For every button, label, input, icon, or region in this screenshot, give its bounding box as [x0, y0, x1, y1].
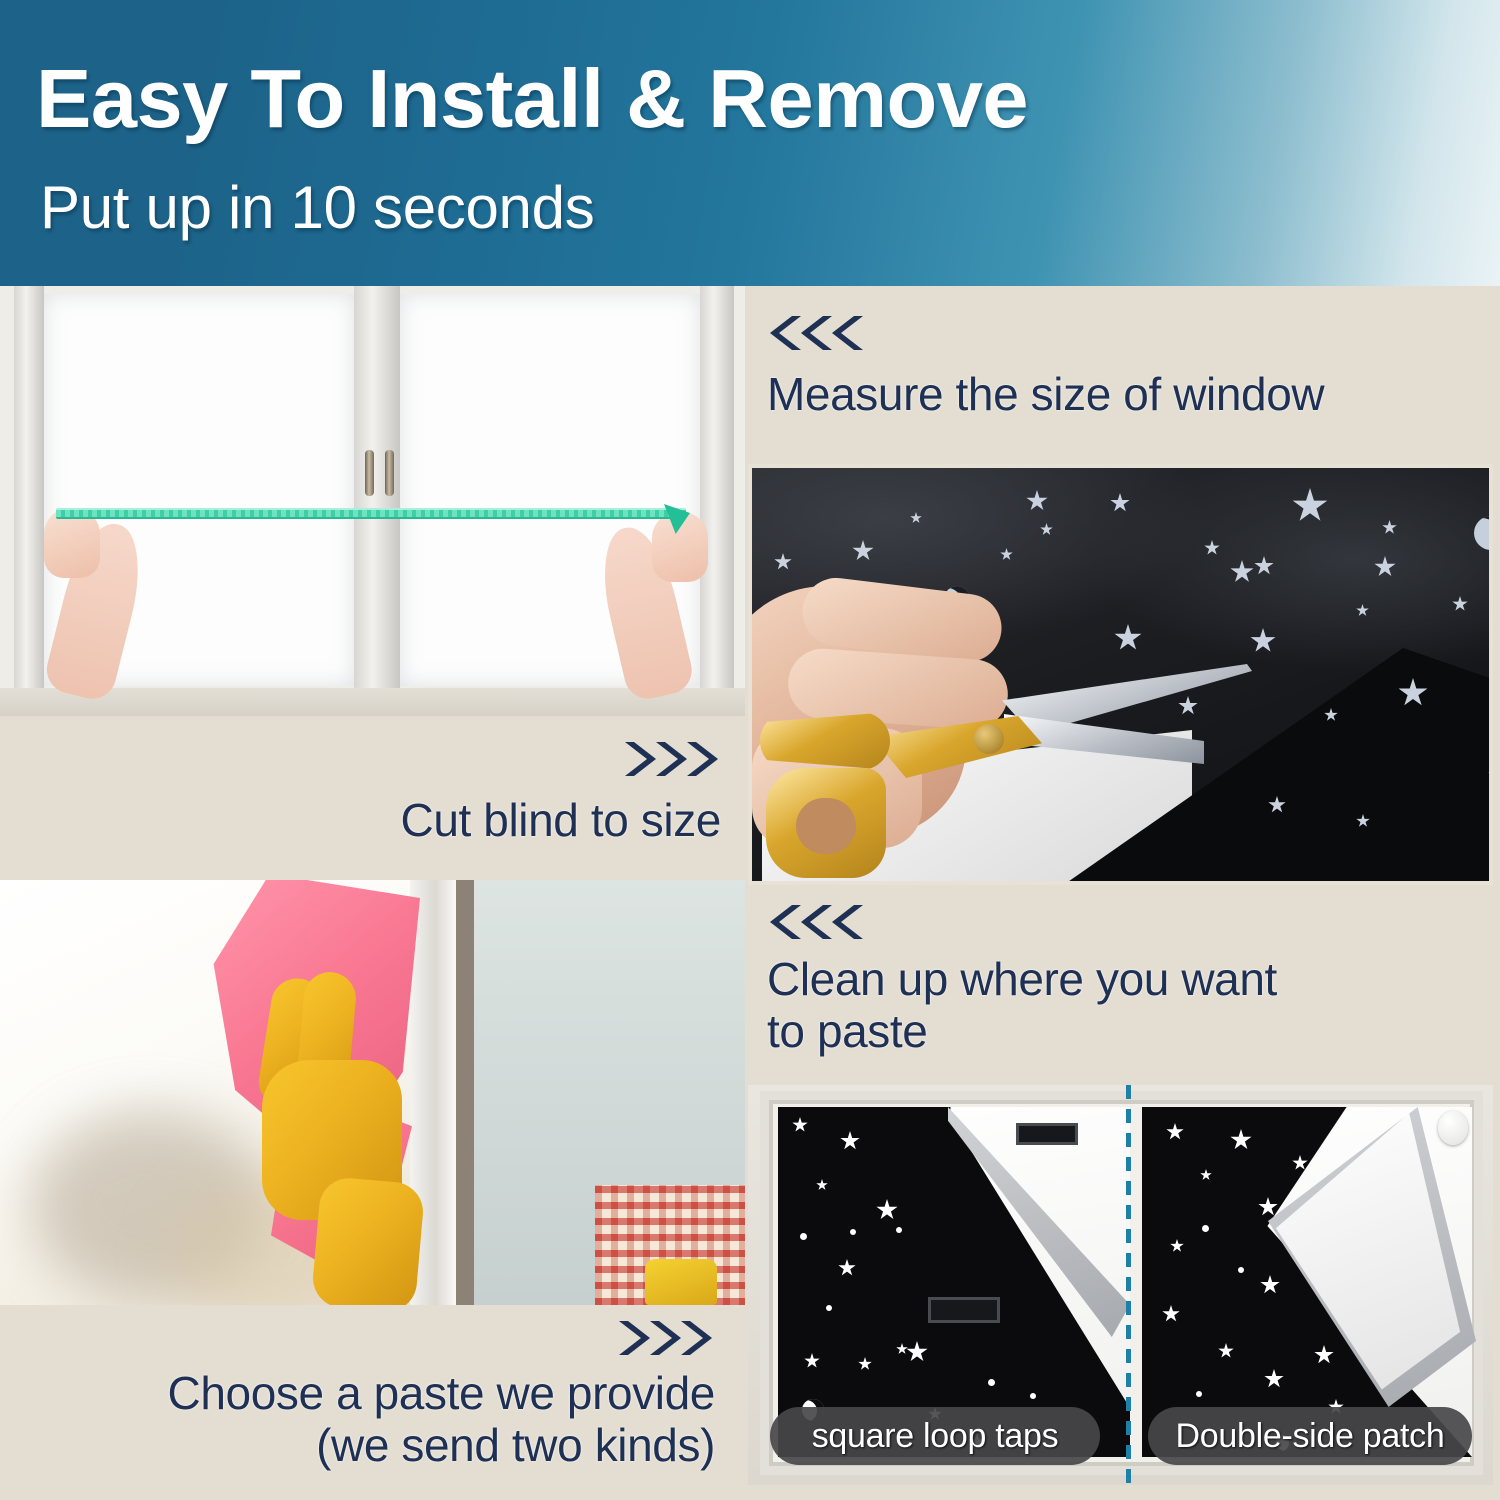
star-icon: [896, 1343, 908, 1355]
dot-icon: [896, 1227, 902, 1233]
window-handle-left: [365, 450, 374, 496]
dot-icon: [850, 1229, 856, 1235]
caption-clean-line2: to paste: [767, 1005, 1277, 1057]
caption-text-cut: Cut blind to size: [401, 794, 721, 846]
star-icon: [838, 1259, 856, 1277]
caption-paste-line2: (we send two kinds): [168, 1419, 715, 1471]
chevron-right-triple-icon: [621, 738, 721, 780]
window-handle-right: [385, 450, 394, 496]
double-side-patch-dot: [1438, 1111, 1468, 1145]
cut-blind-photo: [748, 464, 1493, 885]
rubber-glove-cuff: [311, 1176, 426, 1305]
window-mullion-right: [700, 286, 734, 698]
star-icon: [1258, 1197, 1278, 1217]
measuring-tape: [56, 508, 686, 519]
square-loop-tape-top: [1016, 1123, 1078, 1145]
dot-icon: [826, 1305, 832, 1311]
star-icon: [1314, 1345, 1334, 1365]
caption-cut-blind: Cut blind to size: [0, 716, 745, 880]
dot-icon: [1196, 1391, 1202, 1397]
star-icon: [840, 1131, 860, 1151]
star-icon: [1200, 1169, 1212, 1181]
scissor-handle-hole: [796, 798, 856, 854]
star-icon: [1170, 1239, 1184, 1253]
caption-clean-up: Clean up where you want to paste: [745, 885, 1500, 1085]
page-subtitle: Put up in 10 seconds: [40, 178, 594, 238]
star-icon: [1230, 1129, 1252, 1151]
star-icon: [876, 1199, 898, 1221]
caption-text-clean: Clean up where you want to paste: [767, 953, 1277, 1058]
star-icon: [1218, 1343, 1234, 1359]
caption-text-paste: Choose a paste we provide (we send two k…: [168, 1367, 715, 1472]
star-icon: [792, 1117, 808, 1133]
scissor-pivot-screw: [974, 724, 1004, 754]
star-icon: [804, 1353, 820, 1369]
dot-icon: [1030, 1393, 1036, 1399]
star-icon: [858, 1357, 872, 1371]
star-icon: [1264, 1369, 1284, 1389]
header-banner: Easy To Install & Remove Put up in 10 se…: [0, 0, 1500, 286]
badge-square-loop-taps: square loop taps: [770, 1407, 1100, 1465]
caption-choose-paste: Choose a paste we provide (we send two k…: [0, 1305, 745, 1500]
star-icon: [816, 1179, 828, 1191]
dot-icon: [1202, 1225, 1209, 1232]
square-loop-tape-bottom: [928, 1297, 1000, 1323]
chevron-right-triple-icon: [615, 1317, 715, 1359]
clean-window-photo: [0, 880, 745, 1305]
window-frame-edge: [456, 880, 474, 1305]
star-icon: [1166, 1123, 1184, 1141]
dot-icon: [1238, 1267, 1244, 1273]
chevron-left-triple-icon: [767, 312, 867, 354]
window-mullion-left: [14, 286, 44, 698]
paste-options-photo: square loop taps Double-side patch: [748, 1085, 1493, 1485]
caption-measure-window: Measure the size of window: [745, 286, 1500, 464]
star-icon: [1292, 1155, 1308, 1171]
caption-paste-line1: Choose a paste we provide: [168, 1367, 715, 1419]
measure-window-photo: [0, 286, 745, 716]
caption-clean-line1: Clean up where you want: [767, 953, 1277, 1005]
page-title: Easy To Install & Remove: [36, 57, 1028, 140]
caption-text-measure: Measure the size of window: [767, 368, 1324, 420]
spray-bottle: [645, 1259, 717, 1305]
star-icon: [1260, 1275, 1280, 1295]
star-icon: [1162, 1305, 1180, 1323]
comparison-divider: [1126, 1085, 1131, 1485]
dot-icon: [988, 1379, 995, 1386]
badge-double-side-patch: Double-side patch: [1148, 1407, 1472, 1465]
chevron-left-triple-icon: [767, 901, 867, 943]
dot-icon: [800, 1233, 807, 1240]
star-icon: [906, 1341, 928, 1363]
